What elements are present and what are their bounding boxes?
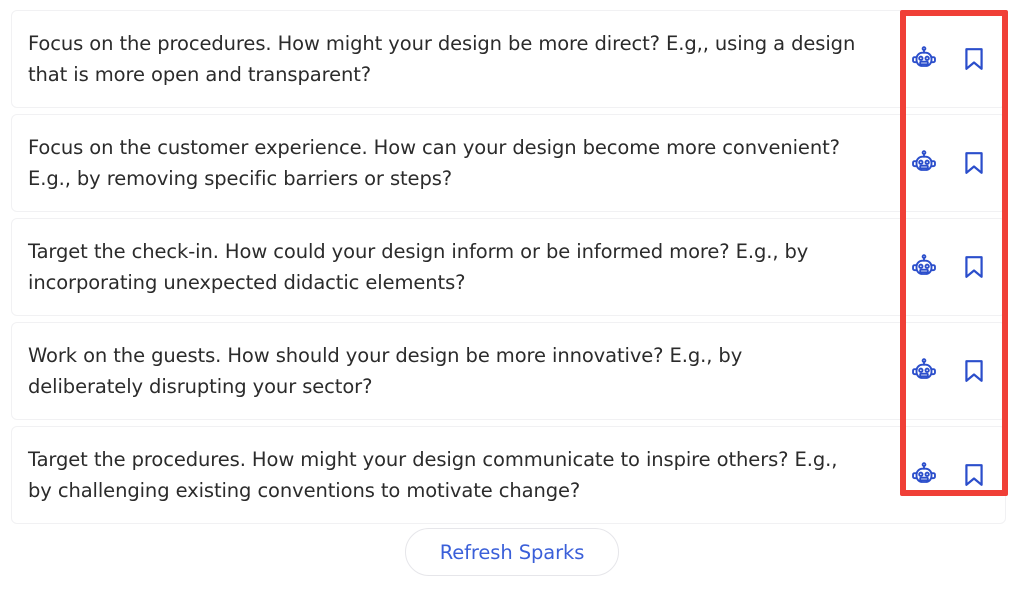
refresh-sparks-button[interactable]: Refresh Sparks xyxy=(405,528,620,576)
robot-icon xyxy=(910,461,938,489)
spark-actions xyxy=(909,252,1005,282)
bookmark-icon xyxy=(960,461,988,489)
spark-row[interactable]: Focus on the customer experience. How ca… xyxy=(11,114,1006,212)
bookmark-icon xyxy=(960,45,988,73)
spark-text: Focus on the customer experience. How ca… xyxy=(12,132,877,194)
spark-row[interactable]: Target the procedures. How might your de… xyxy=(11,426,1006,524)
robot-icon xyxy=(910,253,938,281)
spark-list: Focus on the procedures. How might your … xyxy=(0,0,1024,530)
robot-icon-button[interactable] xyxy=(909,460,939,490)
footer: Refresh Sparks xyxy=(0,528,1024,576)
bookmark-icon-button[interactable] xyxy=(959,252,989,282)
spark-page: Focus on the procedures. How might your … xyxy=(0,0,1024,603)
bookmark-icon-button[interactable] xyxy=(959,460,989,490)
spark-row[interactable]: Focus on the procedures. How might your … xyxy=(11,10,1006,108)
bookmark-icon xyxy=(960,149,988,177)
spark-text: Focus on the procedures. How might your … xyxy=(12,28,877,90)
robot-icon xyxy=(910,45,938,73)
spark-text: Work on the guests. How should your desi… xyxy=(12,340,877,402)
bookmark-icon xyxy=(960,357,988,385)
robot-icon-button[interactable] xyxy=(909,356,939,386)
robot-icon-button[interactable] xyxy=(909,148,939,178)
spark-text: Target the check-in. How could your desi… xyxy=(12,236,877,298)
spark-text: Target the procedures. How might your de… xyxy=(12,444,877,506)
spark-actions xyxy=(909,356,1005,386)
bookmark-icon-button[interactable] xyxy=(959,356,989,386)
spark-row[interactable]: Work on the guests. How should your desi… xyxy=(11,322,1006,420)
spark-actions xyxy=(909,44,1005,74)
robot-icon-button[interactable] xyxy=(909,44,939,74)
robot-icon xyxy=(910,357,938,385)
bookmark-icon xyxy=(960,253,988,281)
robot-icon xyxy=(910,149,938,177)
robot-icon-button[interactable] xyxy=(909,252,939,282)
bookmark-icon-button[interactable] xyxy=(959,44,989,74)
bookmark-icon-button[interactable] xyxy=(959,148,989,178)
spark-actions xyxy=(909,460,1005,490)
spark-row[interactable]: Target the check-in. How could your desi… xyxy=(11,218,1006,316)
spark-actions xyxy=(909,148,1005,178)
